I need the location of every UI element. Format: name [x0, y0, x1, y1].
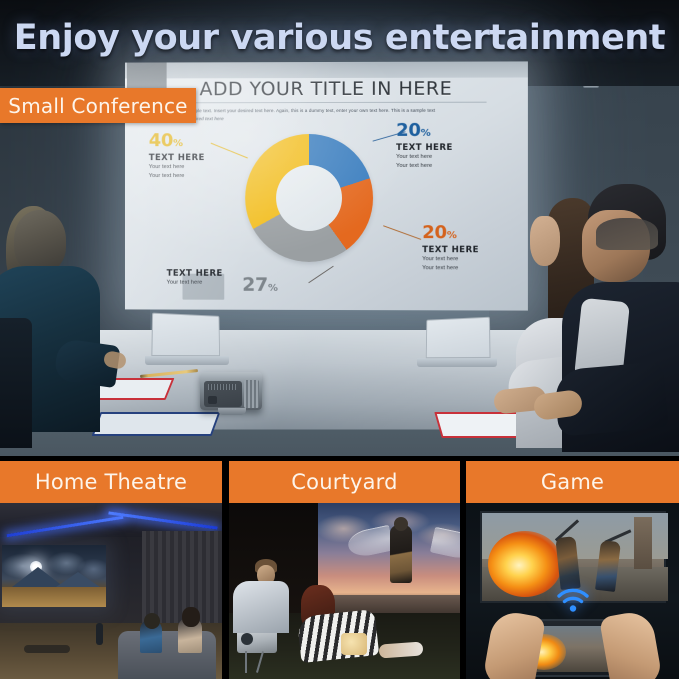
scene-label-home-theatre-text: Home Theatre: [35, 470, 187, 494]
scene-panel-courtyard: Courtyard: [229, 456, 460, 679]
slide-body-line-2: ur desired text here: [183, 115, 508, 124]
chart-heading-27: TEXT HERE: [167, 269, 223, 279]
chart-sub1-27: Your text here: [167, 279, 223, 288]
outdoor-projection-screen: [318, 503, 460, 615]
chart-sub2-20-blue: Your text here: [396, 162, 453, 171]
scene-label-game-text: Game: [541, 470, 604, 494]
scene-image-courtyard: [229, 503, 460, 679]
projector-grill: [208, 384, 236, 390]
product-feature-image: ADD YOUR TITLE IN HERE a sample text. In…: [0, 0, 679, 679]
laptop-right: [424, 318, 497, 367]
scene-panel-game: Game: [466, 456, 679, 679]
chart-sub1-40: Your text here: [149, 163, 205, 172]
chart-sub2-40: Your text here: [149, 172, 205, 181]
chart-heading-20-blue: TEXT HERE: [396, 143, 453, 153]
wifi-cast-icon: [556, 587, 590, 613]
courtyard-night: [229, 503, 460, 679]
laptop-right-screen: [426, 317, 491, 358]
laptop-left-base: [145, 356, 229, 365]
document-blue-folder: [92, 412, 221, 436]
laptop-left-screen: [151, 313, 220, 357]
donut-hole: [276, 165, 342, 231]
scene-label-courtyard: Courtyard: [229, 461, 460, 503]
person-right-man-haircut: [596, 218, 658, 250]
projected-figure: [390, 525, 412, 583]
chart-heading-40: TEXT HERE: [149, 153, 205, 163]
page-title: Enjoy your various entertainment: [0, 18, 679, 58]
slide-top-bar: [125, 61, 528, 78]
viewer-adult-head: [182, 607, 200, 627]
explosion-icon: [488, 531, 562, 597]
chart-label-27: TEXT HERE Your text here: [167, 267, 223, 288]
mountain-peak-2: [56, 572, 100, 587]
right-hand: [599, 609, 663, 679]
chair-left: [0, 318, 32, 448]
popcorn-bowl: [341, 633, 367, 655]
floor-vase: [96, 623, 103, 645]
scene-image-game: [466, 503, 679, 679]
tripod-leg-1: [245, 651, 247, 673]
leader-line-27: [308, 266, 333, 284]
donut-chart: [245, 134, 373, 262]
chart-heading-20-orange: TEXT HERE: [422, 245, 479, 255]
game-tower: [634, 517, 652, 569]
chart-sub2-20-orange: Your text here: [422, 264, 479, 273]
slide-body-text: a sample text. Insert your desired text …: [183, 107, 508, 125]
projected-movie-screen: [2, 545, 106, 607]
chart-pct-40: 40%: [149, 130, 205, 151]
chart-pct-20-orange: 20%: [422, 222, 479, 243]
outdoor-projector-lens: [241, 633, 253, 645]
coffee-table: [24, 645, 70, 653]
game-room: [466, 503, 679, 679]
laptop-right-base: [417, 358, 497, 367]
person-left-head: [14, 210, 66, 272]
movie-foreground-field: [2, 587, 106, 607]
leader-line-20-orange: [383, 225, 421, 240]
projector-vent: [244, 380, 259, 408]
chart-label-20-orange: 20% TEXT HERE Your text here Your text h…: [422, 222, 479, 273]
chart-label-40: 40% TEXT HERE Your text here Your text h…: [149, 130, 205, 180]
badge-small-conference-label: Small Conference: [8, 94, 187, 118]
chart-sub1-20-blue: Your text here: [396, 153, 453, 162]
chart-pct-20-blue: 20%: [396, 120, 453, 141]
scene-image-home-theatre: [0, 503, 222, 679]
badge-small-conference: Small Conference: [0, 88, 196, 123]
projector-body: [200, 372, 262, 410]
home-theatre-room: [0, 503, 222, 679]
chart-label-20-blue: 20% TEXT HERE Your text here Your text h…: [396, 120, 453, 170]
scene-label-game: Game: [466, 461, 679, 503]
scene-label-courtyard-text: Courtyard: [291, 470, 397, 494]
person-right-woman-face: [530, 216, 560, 266]
projector-lens: [208, 396, 217, 404]
conference-scene: ADD YOUR TITLE IN HERE a sample text. In…: [0, 0, 679, 456]
scene-strip: Home Theatre: [0, 456, 679, 679]
laptop-left: [152, 314, 229, 365]
scene-label-home-theatre: Home Theatre: [0, 461, 222, 503]
chart-sub1-20-orange: Your text here: [422, 255, 479, 264]
viewer-child-head: [144, 613, 160, 629]
scene-panel-home-theatre: Home Theatre: [0, 456, 222, 679]
projected-figure-head: [394, 517, 408, 531]
chart-pct-27-wrap: 27%: [242, 274, 277, 296]
projector-device: [200, 368, 270, 414]
leader-line-40: [211, 143, 248, 159]
courtyard-man-body: [233, 581, 289, 633]
chart-pct-27: 27%: [242, 274, 277, 296]
left-hand: [482, 609, 546, 679]
projector-stand: [218, 408, 246, 415]
slide-divider: [167, 102, 487, 104]
